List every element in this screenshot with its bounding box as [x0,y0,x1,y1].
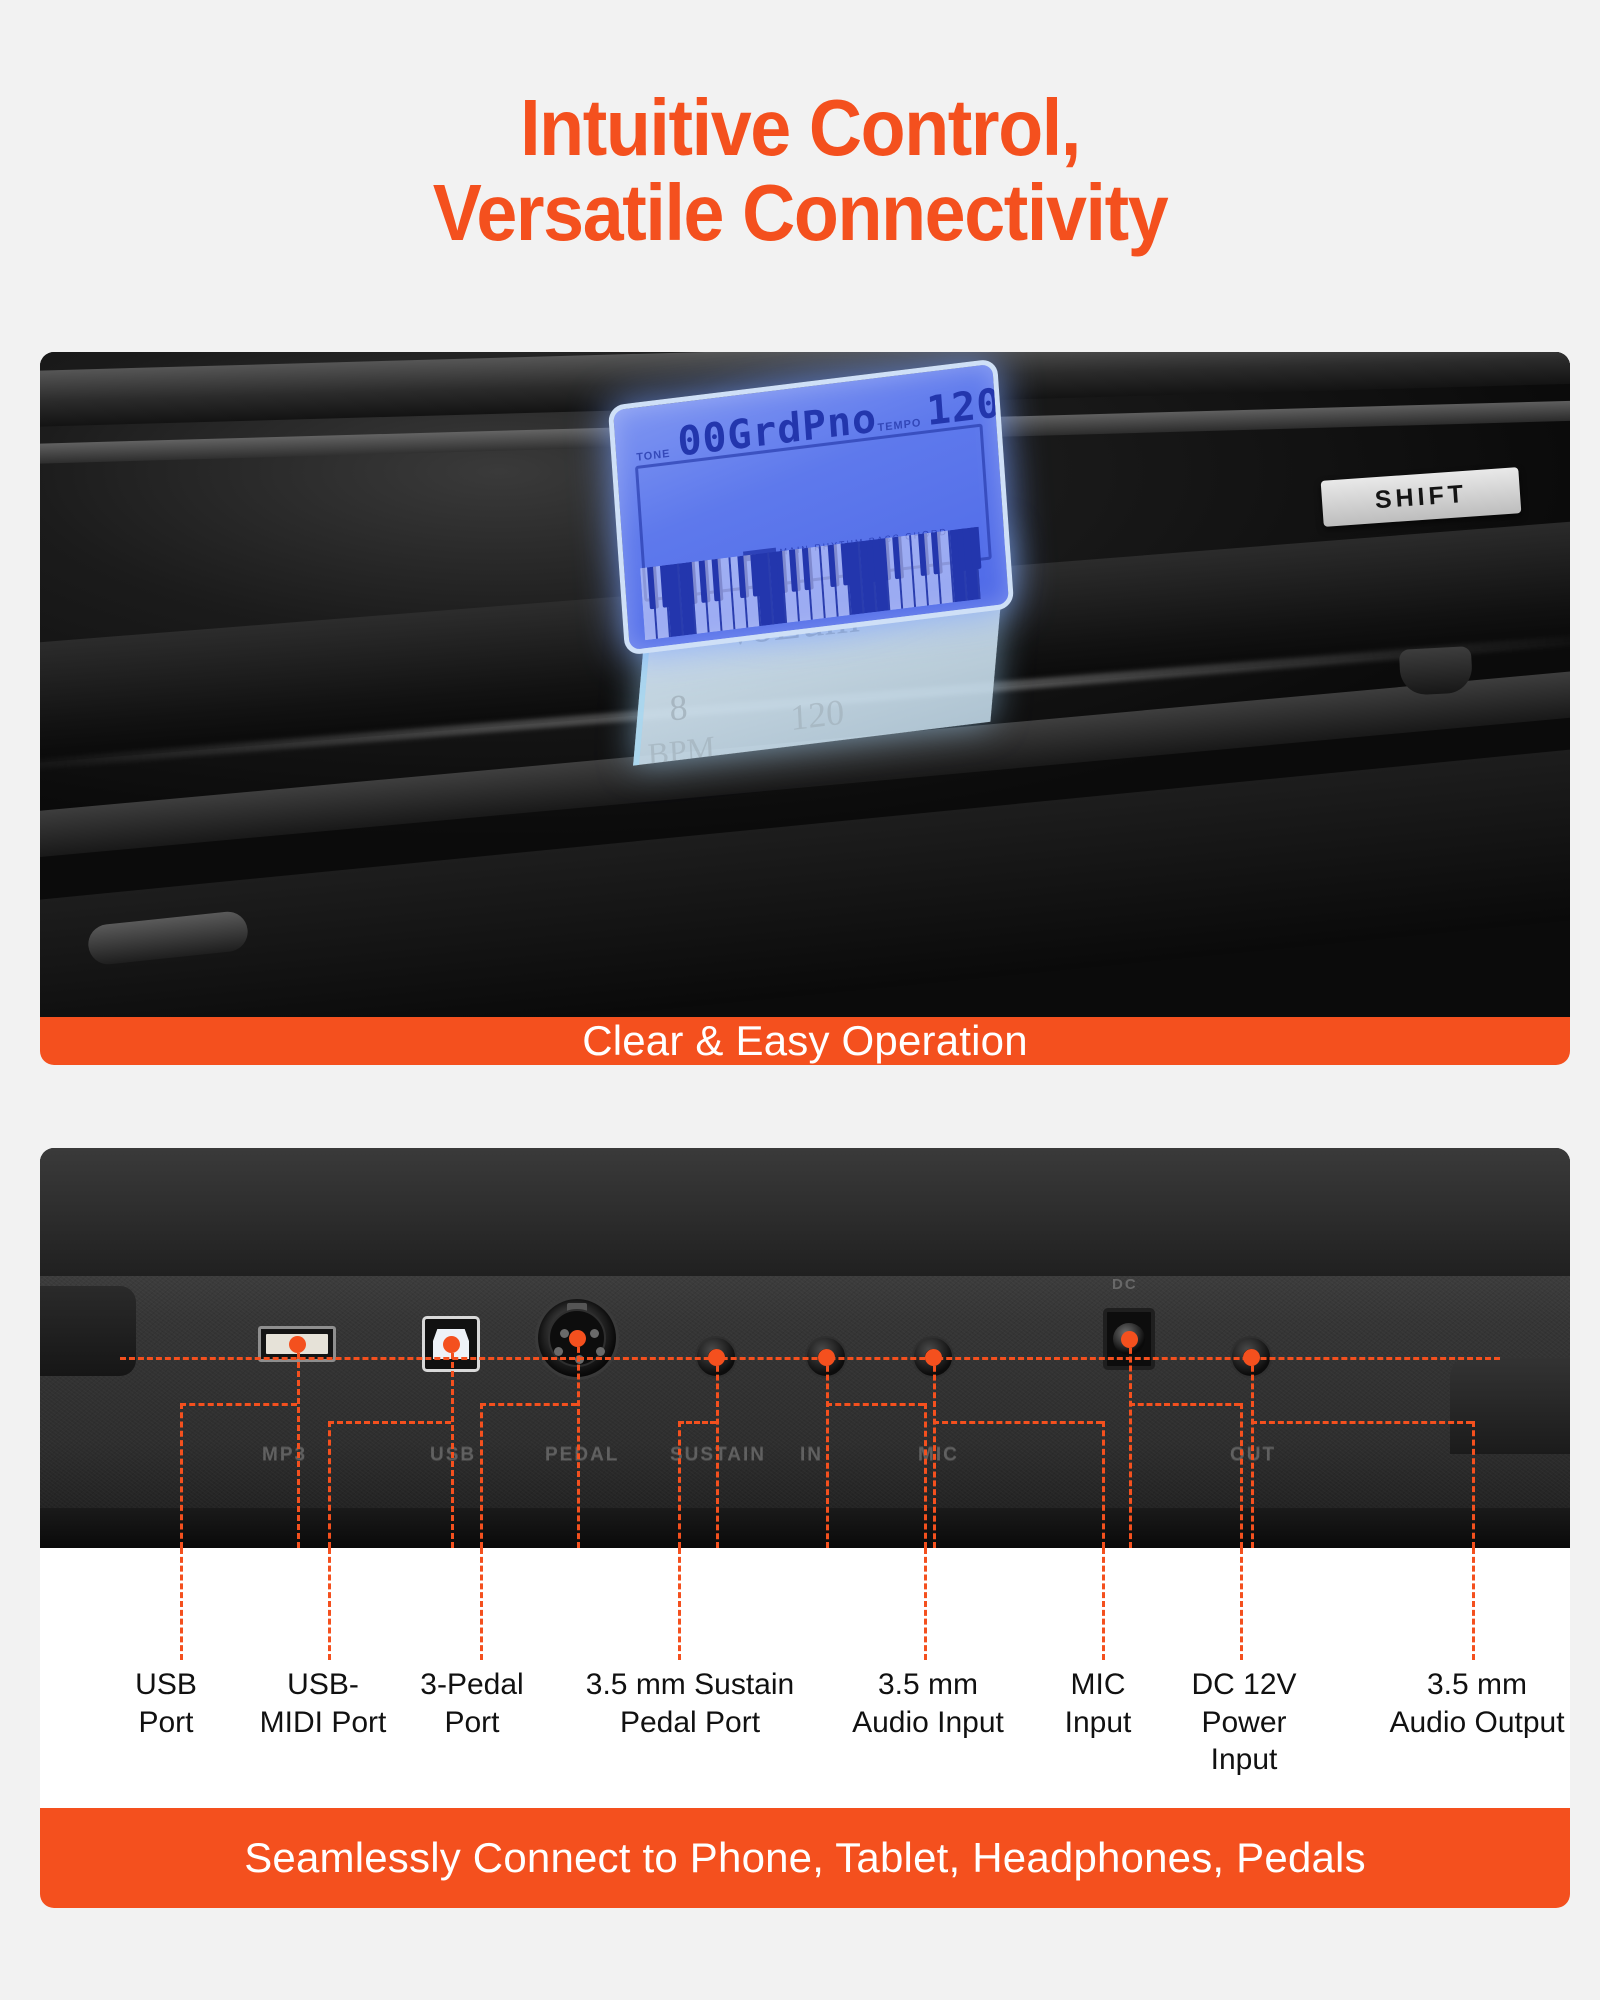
callout-elbow-line [678,1421,716,1424]
dc-power-callout-dot [1121,1331,1138,1348]
label-leader-line [480,1548,483,1660]
silkscreen-label: IN [800,1444,823,1466]
callout-drop-line [826,1357,829,1548]
rear-panel-face [40,1276,1570,1508]
shift-button[interactable]: SHIFT [1321,467,1522,527]
port-labels-row: USBPortUSB-MIDI Port3-PedalPort3.5 mm Su… [40,1548,1570,1808]
callout-elbow-line [480,1403,577,1406]
display-caption-bar: Clear & Easy Operation [40,1017,1570,1065]
shift-button-label: SHIFT [1374,479,1468,514]
callout-drop-line [180,1403,183,1548]
ports-feature-card: DC MP3USBPEDALSUSTAININMICOUT USBPortUSB… [40,1148,1570,1908]
port-label-line: Input [1094,1741,1394,1779]
callout-drop-line [716,1357,719,1548]
dc-silkscreen-label: DC [1112,1276,1138,1293]
rear-panel-right-tab [1450,1358,1570,1454]
port-label-line: Audio Output [1327,1704,1570,1742]
audio-in-callout-dot [818,1349,835,1366]
callout-drop-line [480,1403,483,1548]
callout-drop-line [678,1421,681,1548]
product-feature-page: Intuitive Control, Versatile Connectivit… [0,0,1600,2000]
label-leader-line [678,1548,681,1660]
usb-b-callout-dot [443,1336,460,1353]
sustain-callout-dot [708,1349,725,1366]
callout-drop-line [328,1421,331,1548]
ghost-value-right: 120 [789,691,845,740]
callout-elbow-line [826,1403,924,1406]
usb-a-callout-dot [289,1336,306,1353]
din-pedal-callout-dot [569,1330,586,1347]
headline-line-1: Intuitive Control, [64,86,1536,171]
lcd-screen: TONE 00 GrdPno TEMPO 120 MAIN RHYTHM BAS… [608,358,1015,656]
callout-elbow-line [1129,1403,1240,1406]
port-label-line: 3.5 mm [1327,1666,1570,1704]
callout-drop-line [1129,1339,1132,1548]
mic-callout-dot [925,1349,942,1366]
callout-drop-line [1472,1421,1475,1548]
callout-drop-line [577,1338,580,1548]
callout-drop-line [297,1344,300,1548]
ports-caption-text: Seamlessly Connect to Phone, Tablet, Hea… [244,1834,1366,1882]
label-leader-line [328,1548,331,1660]
display-caption-text: Clear & Easy Operation [582,1017,1028,1065]
callout-elbow-line [1251,1421,1472,1424]
audio-out-callout-dot [1243,1349,1260,1366]
callout-drop-line [1102,1421,1105,1548]
display-feature-card: SHIFT VoLum 8 120 BPM TONE 00 GrdPno TEM… [40,352,1570,1065]
callout-elbow-line [328,1421,451,1424]
label-leader-line [180,1548,183,1660]
ports-caption-bar: Seamlessly Connect to Phone, Tablet, Hea… [40,1808,1570,1908]
label-leader-line [924,1548,927,1660]
label-leader-line [1472,1548,1475,1660]
rear-panel-photo: DC MP3USBPEDALSUSTAININMICOUT [40,1148,1570,1548]
rear-panel-left-tab [40,1286,136,1376]
callout-horizontal-rule [120,1357,1500,1360]
silkscreen-label: PEDAL [545,1444,619,1466]
display-photo: SHIFT VoLum 8 120 BPM TONE 00 GrdPno TEM… [40,352,1570,1017]
lcd-display: TONE 00 GrdPno TEMPO 120 MAIN RHYTHM BAS… [608,358,1015,656]
callout-elbow-line [180,1403,297,1406]
ghost-value-left: 8 [668,686,688,730]
callout-drop-line [451,1344,454,1548]
callout-drop-line [1240,1403,1243,1548]
callout-drop-line [933,1357,936,1548]
page-title: Intuitive Control, Versatile Connectivit… [64,0,1536,256]
callout-drop-line [1251,1357,1254,1548]
lcd-key-black [970,527,982,570]
silkscreen-label: MP3 [262,1444,307,1466]
label-leader-line [1102,1548,1105,1660]
rear-panel-base [40,1508,1570,1548]
callout-drop-line [924,1403,927,1548]
label-leader-line [1240,1548,1243,1660]
callout-elbow-line [933,1421,1102,1424]
headline-line-2: Versatile Connectivity [64,171,1536,256]
port-label: 3.5 mmAudio Output [1327,1666,1570,1741]
rear-panel-top-surface [40,1148,1570,1276]
